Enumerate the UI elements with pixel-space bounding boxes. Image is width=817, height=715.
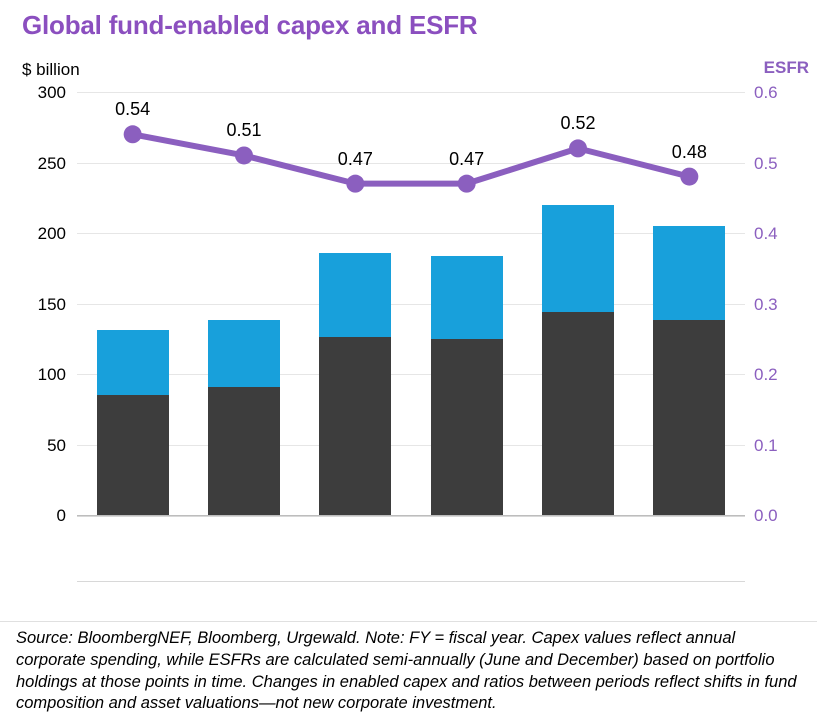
esfr-data-point[interactable] bbox=[458, 175, 476, 193]
y-axis-left-tick-label: 150 bbox=[6, 295, 66, 315]
y-axis-left-tick-label: 200 bbox=[6, 224, 66, 244]
y-axis-right-tick-label: 0.4 bbox=[754, 224, 814, 244]
right-axis-title: ESFR bbox=[764, 58, 809, 78]
plot-area: 0.540.510.470.470.520.48 bbox=[77, 92, 745, 515]
y-axis-right-tick-label: 0.6 bbox=[754, 83, 814, 103]
esfr-data-point[interactable] bbox=[569, 139, 587, 157]
y-axis-left-tick-label: 250 bbox=[6, 154, 66, 174]
y-axis-right-tick-label: 0.0 bbox=[754, 506, 814, 526]
esfr-line-series bbox=[77, 92, 745, 515]
esfr-data-point[interactable] bbox=[346, 175, 364, 193]
y-axis-right-tick-label: 0.1 bbox=[754, 436, 814, 456]
esfr-data-point[interactable] bbox=[235, 146, 253, 164]
chart-title: Global fund-enabled capex and ESFR bbox=[22, 10, 478, 41]
esfr-point-label: 0.48 bbox=[672, 142, 707, 163]
category-axis bbox=[77, 516, 745, 582]
esfr-data-point[interactable] bbox=[124, 125, 142, 143]
legend bbox=[0, 588, 817, 614]
source-note: Source: BloombergNEF, Bloomberg, Urgewal… bbox=[16, 628, 806, 715]
y-axis-left-tick-label: 50 bbox=[6, 436, 66, 456]
source-divider bbox=[0, 621, 817, 622]
y-axis-left-tick-label: 300 bbox=[6, 83, 66, 103]
esfr-point-label: 0.54 bbox=[115, 99, 150, 120]
y-axis-right-tick-label: 0.2 bbox=[754, 365, 814, 385]
esfr-point-label: 0.47 bbox=[449, 149, 484, 170]
left-axis-title: $ billion bbox=[22, 60, 80, 80]
esfr-point-label: 0.52 bbox=[560, 113, 595, 134]
y-axis-right-tick-label: 0.3 bbox=[754, 295, 814, 315]
esfr-data-point[interactable] bbox=[680, 168, 698, 186]
esfr-line bbox=[133, 134, 690, 183]
esfr-point-label: 0.51 bbox=[226, 120, 261, 141]
y-axis-left-tick-label: 0 bbox=[6, 506, 66, 526]
esfr-point-label: 0.47 bbox=[338, 149, 373, 170]
y-axis-left-tick-label: 100 bbox=[6, 365, 66, 385]
y-axis-right-tick-label: 0.5 bbox=[754, 154, 814, 174]
